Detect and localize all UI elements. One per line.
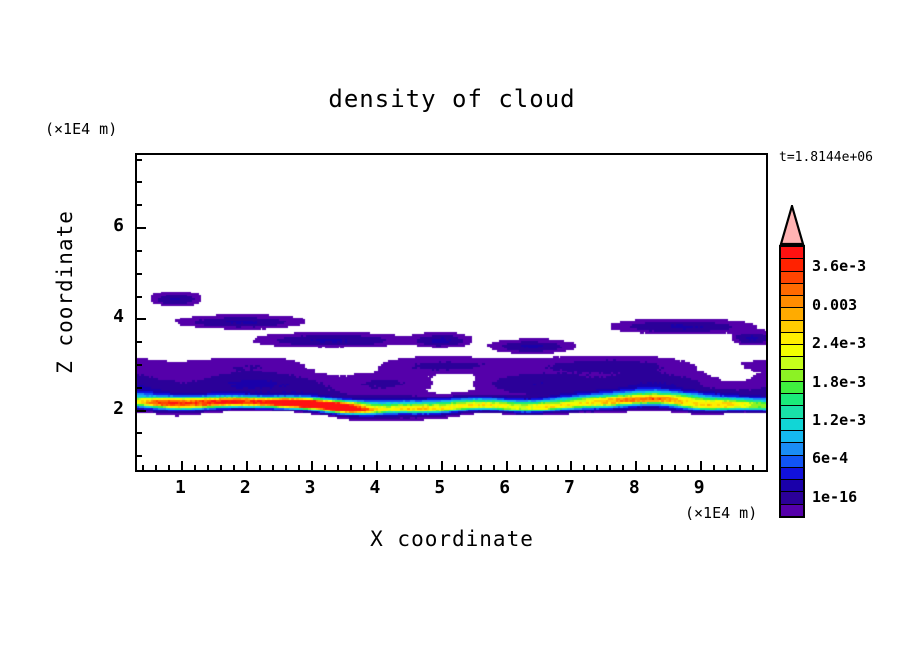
y-axis-unit-label: (×1E4 m) xyxy=(45,120,117,138)
x-tick-minor xyxy=(428,465,430,470)
colorbar-band xyxy=(781,357,803,369)
y-tick-minor xyxy=(137,250,142,252)
x-tick-minor xyxy=(324,465,326,470)
x-tick-minor xyxy=(493,465,495,470)
x-tick-minor xyxy=(545,465,547,470)
x-tick-minor xyxy=(285,465,287,470)
colorbar-band xyxy=(781,468,803,480)
x-tick-major xyxy=(376,461,378,470)
y-tick-minor xyxy=(137,455,142,457)
colorbar-band xyxy=(781,296,803,308)
y-tick-label: 4 xyxy=(84,306,124,327)
x-tick-minor xyxy=(350,465,352,470)
x-axis-title: X coordinate xyxy=(0,527,904,551)
x-tick-label: 3 xyxy=(290,477,330,498)
x-tick-label: 6 xyxy=(485,477,525,498)
x-tick-label: 2 xyxy=(225,477,265,498)
x-tick-minor xyxy=(557,465,559,470)
colorbar-band xyxy=(781,419,803,431)
y-tick-minor xyxy=(137,273,142,275)
colorbar-band xyxy=(781,480,803,492)
colorbar-band xyxy=(781,259,803,271)
colorbar-label: 1.2e-3 xyxy=(812,411,866,429)
x-tick-minor xyxy=(337,465,339,470)
x-tick-minor xyxy=(389,465,391,470)
x-tick-minor xyxy=(648,465,650,470)
x-tick-minor xyxy=(415,465,417,470)
x-tick-minor xyxy=(454,465,456,470)
colorbar-bands xyxy=(779,245,805,518)
x-tick-major xyxy=(570,461,572,470)
x-tick-minor xyxy=(259,465,261,470)
x-tick-major xyxy=(181,461,183,470)
x-tick-minor xyxy=(363,465,365,470)
x-tick-minor xyxy=(622,465,624,470)
figure-canvas: density of cloud (×1E4 m) (×1E4 m) t=1.8… xyxy=(0,0,904,654)
colorbar-band xyxy=(781,345,803,357)
colorbar-label: 6e-4 xyxy=(812,449,848,467)
y-tick-minor xyxy=(137,387,142,389)
x-tick-minor xyxy=(752,465,754,470)
x-tick-minor xyxy=(596,465,598,470)
colorbar-band xyxy=(781,456,803,468)
x-axis-unit-label: (×1E4 m) xyxy=(685,504,757,522)
x-tick-minor xyxy=(298,465,300,470)
y-tick-major xyxy=(137,318,146,320)
colorbar-band xyxy=(781,406,803,418)
x-tick-minor xyxy=(674,465,676,470)
y-axis-title: Z coordinate xyxy=(53,202,77,382)
colorbar-band xyxy=(781,443,803,455)
y-tick-minor xyxy=(137,364,142,366)
colorbar-label: 1.8e-3 xyxy=(812,373,866,391)
x-tick-major xyxy=(441,461,443,470)
x-tick-label: 7 xyxy=(549,477,589,498)
x-tick-minor xyxy=(233,465,235,470)
x-tick-label: 5 xyxy=(420,477,460,498)
contour-field xyxy=(137,155,766,470)
y-tick-minor xyxy=(137,296,142,298)
x-tick-minor xyxy=(583,465,585,470)
colorbar-band xyxy=(781,370,803,382)
colorbar-band xyxy=(781,431,803,443)
x-tick-minor xyxy=(168,465,170,470)
y-tick-minor xyxy=(137,159,142,161)
x-tick-minor xyxy=(142,465,144,470)
x-tick-label: 4 xyxy=(355,477,395,498)
x-tick-minor xyxy=(739,465,741,470)
colorbar-tick-labels: 3.6e-30.0032.4e-31.8e-31.2e-36e-41e-16 xyxy=(812,205,904,518)
y-tick-minor xyxy=(137,341,142,343)
x-tick-minor xyxy=(532,465,534,470)
page-title: density of cloud xyxy=(0,85,904,113)
x-tick-minor xyxy=(402,465,404,470)
x-tick-minor xyxy=(661,465,663,470)
x-tick-minor xyxy=(726,465,728,470)
x-tick-label: 1 xyxy=(160,477,200,498)
y-tick-major xyxy=(137,410,146,412)
x-tick-minor xyxy=(713,465,715,470)
x-tick-minor xyxy=(194,465,196,470)
colorbar-band xyxy=(781,382,803,394)
colorbar-band xyxy=(781,505,803,516)
x-tick-label: 8 xyxy=(614,477,654,498)
x-tick-minor xyxy=(467,465,469,470)
x-tick-minor xyxy=(272,465,274,470)
plot-area xyxy=(135,153,768,472)
colorbar-band xyxy=(781,284,803,296)
x-tick-minor xyxy=(155,465,157,470)
colorbar-band xyxy=(781,394,803,406)
x-tick-major xyxy=(635,461,637,470)
x-tick-major xyxy=(506,461,508,470)
x-tick-minor xyxy=(687,465,689,470)
y-tick-label: 6 xyxy=(84,215,124,236)
x-tick-major xyxy=(246,461,248,470)
x-tick-major xyxy=(700,461,702,470)
x-tick-label: 9 xyxy=(679,477,719,498)
y-tick-minor xyxy=(137,204,142,206)
x-tick-minor xyxy=(519,465,521,470)
x-tick-minor xyxy=(220,465,222,470)
colorbar-overflow-arrow-icon xyxy=(779,205,805,245)
x-tick-minor xyxy=(609,465,611,470)
colorbar-band xyxy=(781,272,803,284)
colorbar-band xyxy=(781,333,803,345)
colorbar-label: 1e-16 xyxy=(812,488,857,506)
colorbar-band xyxy=(781,247,803,259)
y-tick-minor xyxy=(137,432,142,434)
x-tick-minor xyxy=(207,465,209,470)
y-tick-label: 2 xyxy=(84,398,124,419)
colorbar-label: 3.6e-3 xyxy=(812,257,866,275)
colorbar-label: 0.003 xyxy=(812,296,857,314)
y-tick-major xyxy=(137,227,146,229)
colorbar-label: 2.4e-3 xyxy=(812,334,866,352)
x-tick-major xyxy=(311,461,313,470)
colorbar-band xyxy=(781,308,803,320)
y-tick-minor xyxy=(137,181,142,183)
colorbar-band xyxy=(781,492,803,504)
timestamp-annotation: t=1.8144e+06 xyxy=(779,150,873,165)
x-tick-minor xyxy=(480,465,482,470)
colorbar-band xyxy=(781,321,803,333)
